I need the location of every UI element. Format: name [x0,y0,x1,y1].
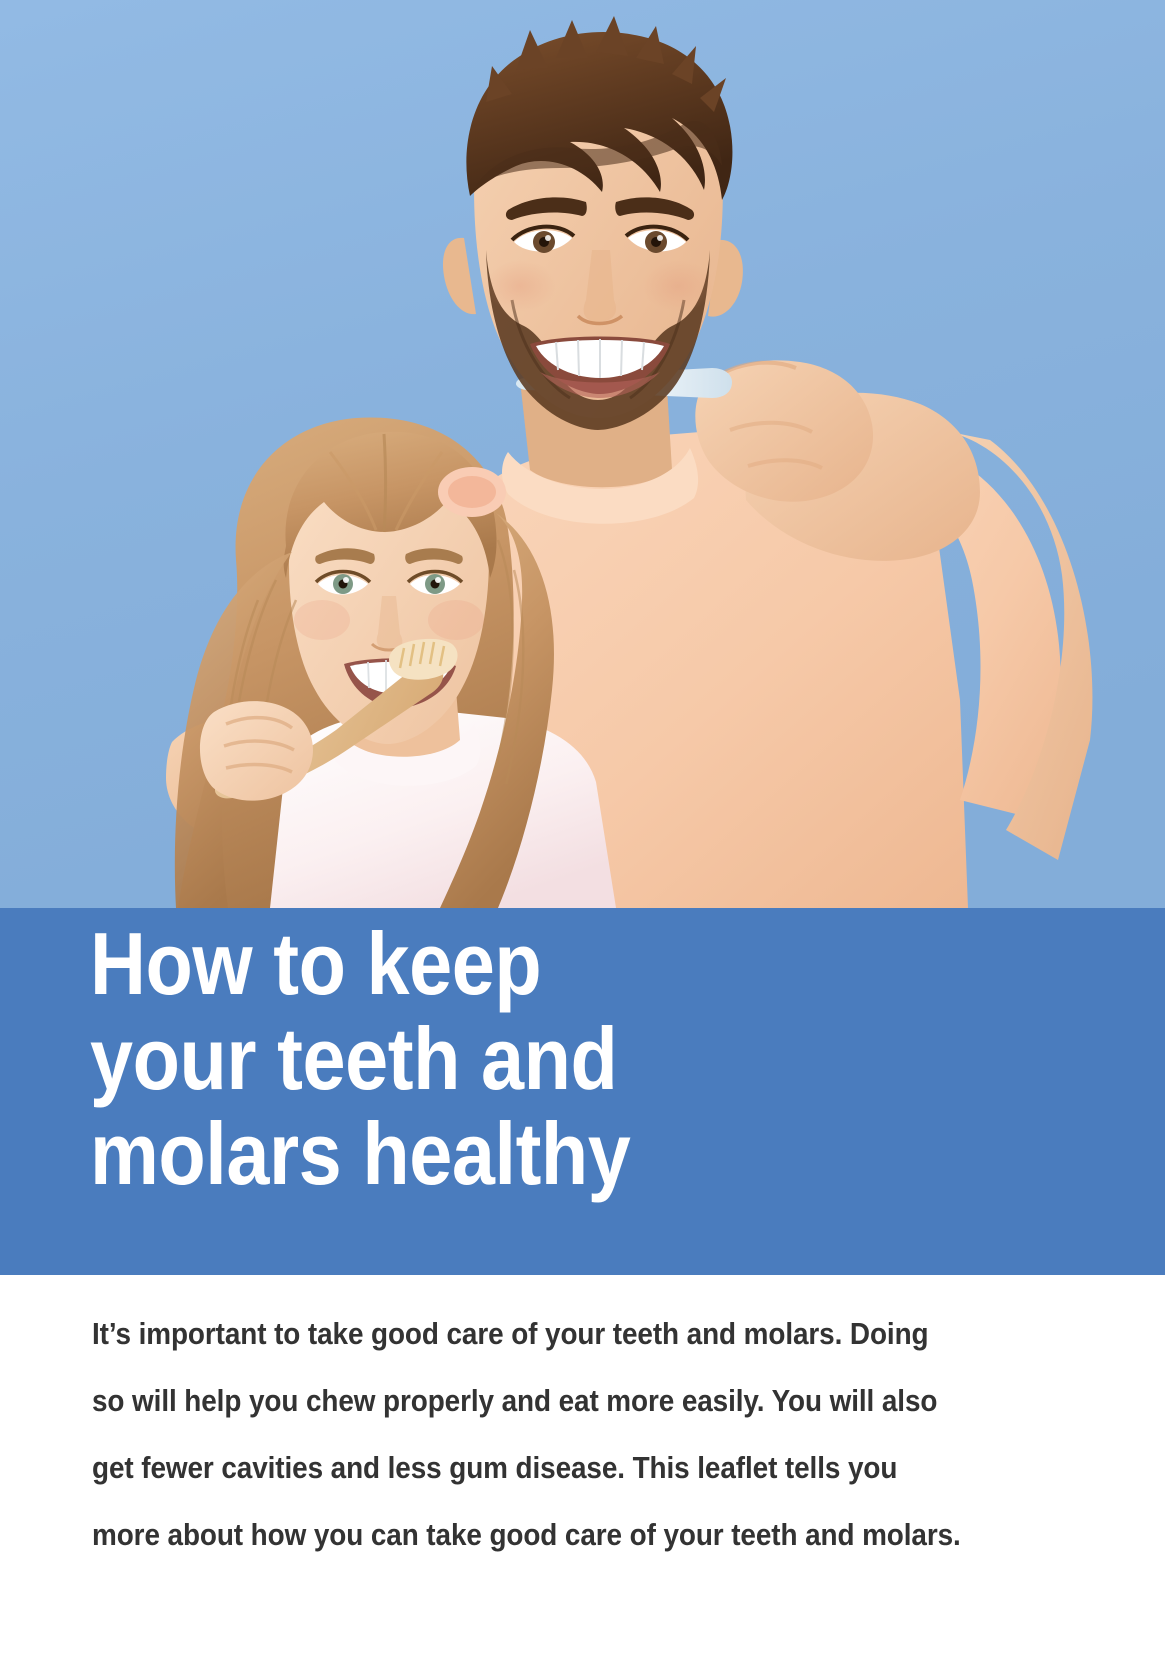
intro-paragraph: It’s important to take good care of your… [92,1300,992,1568]
hero-illustration [0,0,1165,908]
leaflet-page: How to keep your teeth and molars health… [0,0,1165,1653]
intro-line-2: so will help you chew properly and eat m… [92,1367,992,1434]
title-line-1: How to keep [90,916,812,1011]
page-title: How to keep your teeth and molars health… [90,916,812,1201]
title-band: How to keep your teeth and molars health… [0,908,1165,1275]
hero-photo [0,0,1165,908]
title-line-3: molars healthy [90,1106,812,1201]
intro-line-4: more about how you can take good care of… [92,1501,992,1568]
title-line-2: your teeth and [90,1011,812,1106]
intro-line-1: It’s important to take good care of your… [92,1300,992,1367]
intro-line-3: get fewer cavities and less gum disease.… [92,1434,992,1501]
